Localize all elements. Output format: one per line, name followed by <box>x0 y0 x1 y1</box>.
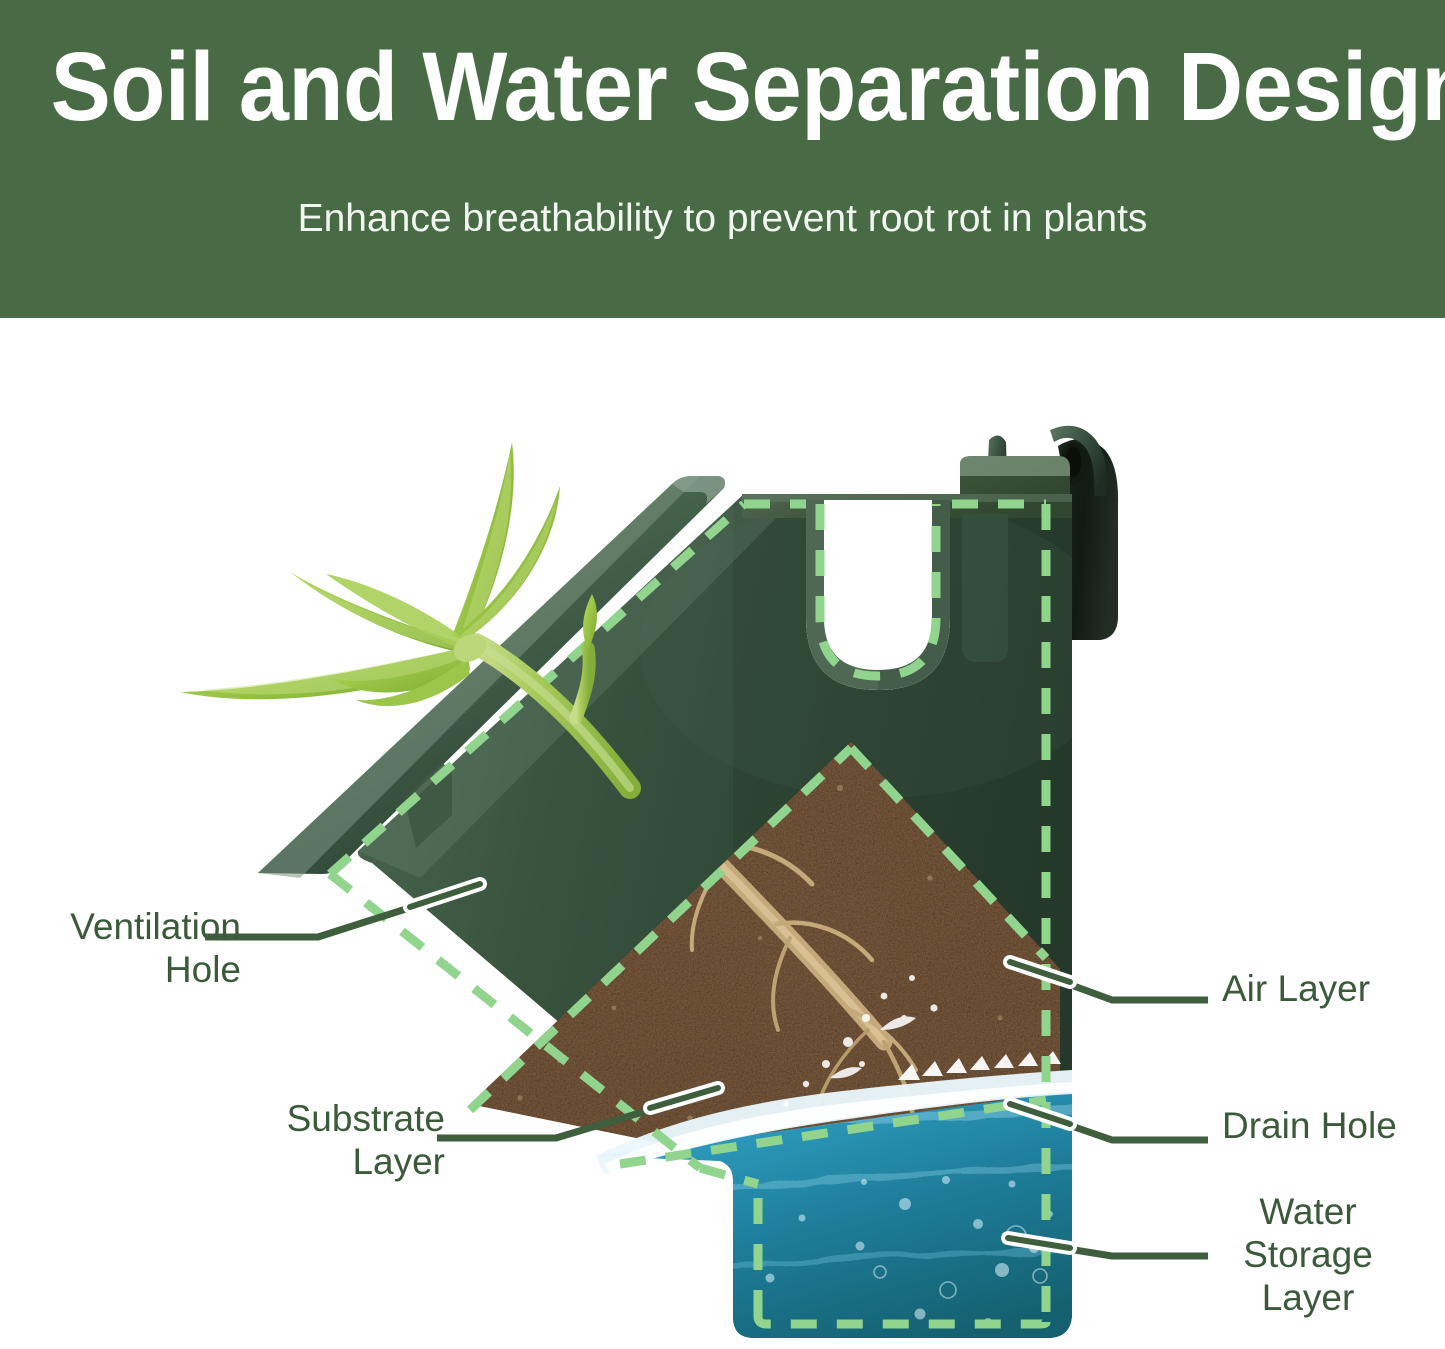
callout-label-ventilation-hole: Ventilation Hole <box>0 906 241 992</box>
header-banner: Soil and Water Separation Design Enhance… <box>0 0 1445 318</box>
inner-rib <box>962 514 1008 662</box>
page-title: Soil and Water Separation Design <box>51 38 1395 137</box>
page-subtitle: Enhance breathability to prevent root ro… <box>0 196 1445 243</box>
callout-label-drain-hole: Drain Hole <box>1222 1105 1445 1148</box>
notch-interior <box>824 500 932 670</box>
callout-label-air-layer: Air Layer <box>1222 968 1445 1011</box>
infographic-page: Soil and Water Separation Design Enhance… <box>0 0 1445 1349</box>
callout-label-water-storage-layer: Water Storage Layer <box>1208 1191 1408 1320</box>
product-illustration-stage: Ventilation Hole Substrate Layer Air Lay… <box>0 318 1445 1349</box>
callout-label-substrate-layer: Substrate Layer <box>145 1098 445 1184</box>
